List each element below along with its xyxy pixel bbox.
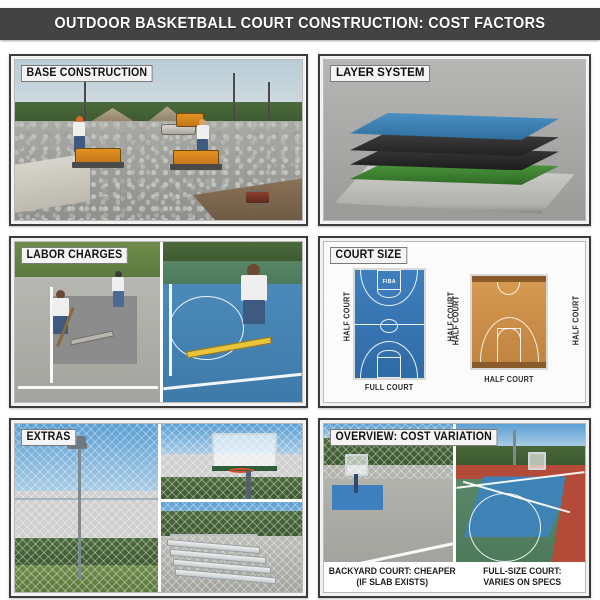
caption-full-size-court: FULL-SIZE COURT: VARIES ON SPECS — [465, 562, 581, 592]
photo-light-pole — [15, 424, 158, 592]
diagram-full-court: FIBA — [353, 268, 426, 380]
diagram-half-court — [470, 274, 548, 370]
photo-split-labor — [15, 242, 302, 402]
panel-labor-charges-frame: LABOR CHARGES — [14, 241, 303, 403]
photo-line-work — [163, 242, 302, 402]
photo-bleachers — [161, 502, 302, 592]
panel-court-size-frame: 3 FIBA HALF COURT HALF COURT — [323, 241, 586, 403]
panel-overview-frame: BACKYARD COURT: CHEAPER (IF SLAB EXISTS)… — [323, 423, 586, 593]
infographic-page: OUTDOOR BASKETBALL COURT CONSTRUCTION: C… — [0, 0, 600, 600]
panel-base-construction-frame: BASE CONSTRUCTION — [14, 59, 303, 221]
panel-label-base-construction: BASE CONSTRUCTION — [21, 65, 153, 82]
half-court-side-label-left: HALF COURT — [451, 293, 460, 347]
panel-label-court-size: COURT SIZE — [330, 247, 407, 264]
panel-layer-system[interactable]: LAYER SYSTEM — [318, 54, 591, 226]
photo-resurfacing — [15, 242, 160, 402]
watermark: 3 — [323, 290, 342, 340]
full-court-caption: FULL COURT — [342, 383, 436, 392]
photo-base-construction — [15, 60, 302, 220]
panel-layer-system-frame: LAYER SYSTEM — [323, 59, 586, 221]
panel-label-labor-charges: LABOR CHARGES — [21, 247, 128, 264]
hoop-post — [354, 474, 358, 493]
photo-hoop — [161, 424, 302, 499]
caption-backyard-court: BACKYARD COURT: CHEAPER (IF SLAB EXISTS) — [329, 562, 456, 592]
panel-overview-cost-variation[interactable]: BACKYARD COURT: CHEAPER (IF SLAB EXISTS)… — [318, 418, 591, 598]
light-pole — [513, 430, 516, 466]
page-title: OUTDOOR BASKETBALL COURT CONSTRUCTION: C… — [55, 15, 546, 33]
panel-grid: BASE CONSTRUCTION LAYER SYSTEM — [9, 54, 591, 594]
panel-extras[interactable]: EXTRAS — [9, 418, 308, 598]
backboard — [528, 452, 546, 470]
worker-figure — [111, 271, 125, 307]
header-bar: OUTDOOR BASKETBALL COURT CONSTRUCTION: C… — [0, 8, 600, 40]
photo-split-extras — [15, 424, 302, 592]
light-pole — [78, 446, 81, 580]
half-court-caption: HALF COURT — [467, 375, 552, 384]
diagram-court-size: 3 FIBA HALF COURT HALF COURT — [324, 242, 585, 402]
full-court-side-label-left: HALF COURT — [343, 290, 352, 344]
half-court-side-label-right: HALF COURT — [571, 293, 580, 347]
hoop-post — [246, 471, 251, 500]
panel-extras-frame: EXTRAS — [14, 423, 303, 593]
panel-label-extras: EXTRAS — [21, 429, 76, 446]
panel-label-overview: OVERVIEW: COST VARIATION — [330, 429, 498, 446]
panel-base-construction[interactable]: BASE CONSTRUCTION — [9, 54, 308, 226]
photo-layer-system — [324, 60, 585, 220]
fiba-mark: FIBA — [383, 279, 396, 285]
worker-figure — [244, 264, 264, 322]
panel-court-size[interactable]: 3 FIBA HALF COURT HALF COURT — [318, 236, 591, 408]
backboard — [212, 433, 277, 471]
panel-label-layer-system: LAYER SYSTEM — [330, 65, 430, 82]
overview-captions: BACKYARD COURT: CHEAPER (IF SLAB EXISTS)… — [324, 562, 585, 592]
panel-labor-charges[interactable]: LABOR CHARGES — [9, 236, 308, 408]
